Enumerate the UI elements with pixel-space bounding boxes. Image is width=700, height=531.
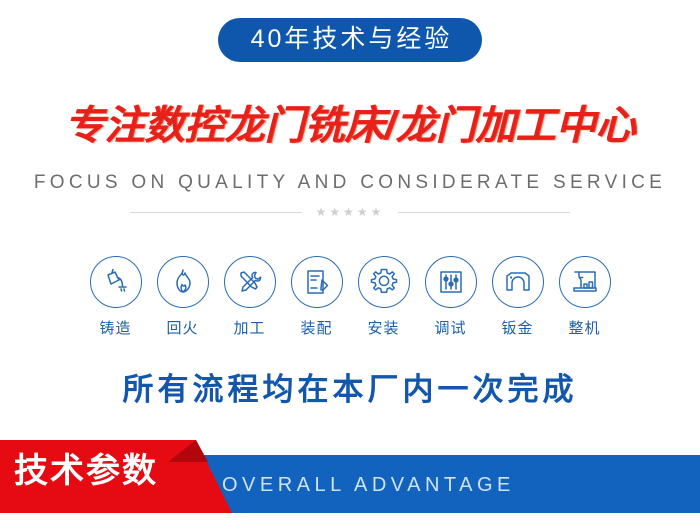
main-headline: 专注数控龙门铣床/龙门加工中心	[0, 103, 700, 149]
process-label: 安装	[367, 317, 399, 338]
process-item-complete-machine: 整机	[551, 256, 618, 338]
section-title-cn: 技术参数	[14, 453, 158, 490]
machine-unit-icon	[559, 256, 611, 308]
process-label: 整机	[568, 317, 600, 338]
document-pen-icon	[291, 256, 343, 308]
section-banner: 技术参数 OVERALL ADVANTAGE	[0, 436, 700, 516]
process-label: 回火	[166, 317, 198, 338]
process-item-sheet-metal: 钣金	[484, 256, 551, 338]
casting-ladle-icon	[90, 256, 142, 308]
promo-banner-page: 40年技术与经验 专注数控龙门铣床/龙门加工中心 FOCUS ON QUALIT…	[0, 0, 700, 531]
section-title-en: OVERALL ADVANTAGE	[222, 474, 515, 497]
sheet-metal-arch-icon	[492, 256, 544, 308]
english-subtitle: FOCUS ON QUALITY AND CONSIDERATE SERVICE	[0, 172, 700, 194]
process-item-debugging: 调试	[417, 256, 484, 338]
process-item-casting: 铸造	[82, 256, 149, 338]
process-label: 调试	[434, 317, 466, 338]
sliders-panel-icon	[425, 256, 477, 308]
process-label: 加工	[233, 317, 265, 338]
process-tagline: 所有流程均在本厂内一次完成	[0, 364, 700, 409]
flame-icon	[157, 256, 209, 308]
process-label: 铸造	[99, 317, 131, 338]
process-label: 装配	[300, 317, 332, 338]
divider-rule-left	[130, 212, 302, 213]
process-item-tempering: 回火	[149, 256, 216, 338]
badge-row: 40年技术与经验	[0, 18, 700, 62]
divider-rule-right	[398, 212, 570, 213]
process-item-installation: 安装	[350, 256, 417, 338]
process-label: 钣金	[501, 317, 533, 338]
wrench-screwdriver-icon	[224, 256, 276, 308]
gear-icon	[358, 256, 410, 308]
process-item-machining: 加工	[216, 256, 283, 338]
experience-badge: 40年技术与经验	[218, 18, 483, 62]
star-divider: ★★★★★	[0, 206, 700, 218]
stars-icon: ★★★★★	[316, 206, 385, 218]
process-icon-row: 铸造 回火 加工	[0, 256, 700, 338]
process-item-assembly: 装配	[283, 256, 350, 338]
